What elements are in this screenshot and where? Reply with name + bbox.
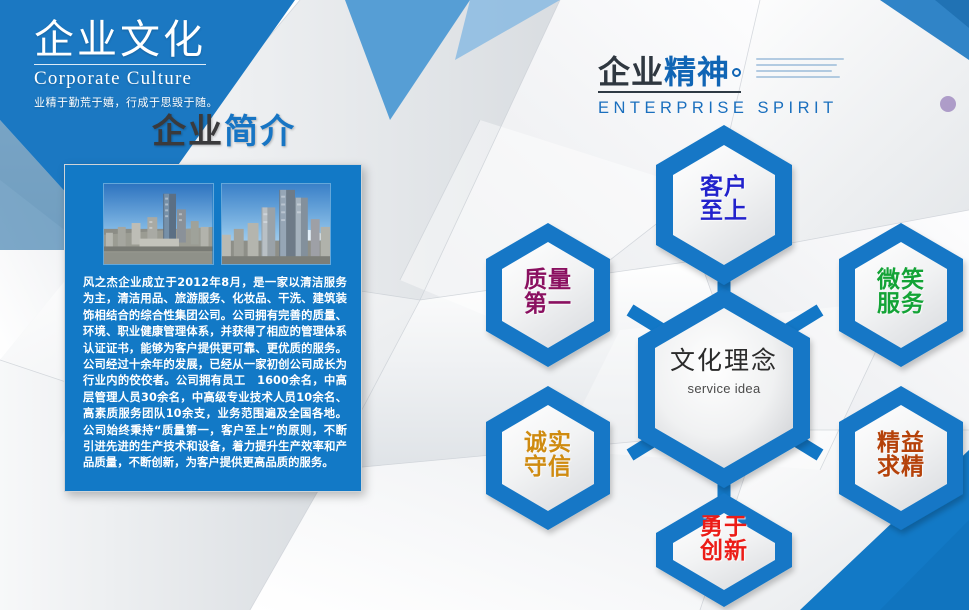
hex-bottom bbox=[656, 493, 792, 607]
hex-upper-left bbox=[486, 223, 610, 367]
banner-text-block: 企业文化 Corporate Culture 业精于勤荒于嬉，行成于思毁于随。 bbox=[34, 18, 354, 110]
spirit-title-blue: 精神 bbox=[664, 53, 730, 91]
banner-title-cn: 企业文化 bbox=[34, 18, 206, 65]
intro-heading-dark: 企业 bbox=[152, 112, 224, 152]
poster-canvas: 企业文化 Corporate Culture 业精于勤荒于嬉，行成于思毁于随。 … bbox=[0, 0, 969, 610]
intro-section-heading: 企业简介 bbox=[152, 112, 296, 152]
company-intro-card: 风之杰企业成立于2012年8月，是一家以清洁服务为主，清洁用品、旅游服务、化妆品… bbox=[64, 164, 362, 492]
intro-heading-blue: 简介 bbox=[224, 112, 296, 152]
spirit-title-dark: 企业 bbox=[598, 53, 664, 91]
company-intro-text: 风之杰企业成立于2012年8月，是一家以清洁服务为主，清洁用品、旅游服务、化妆品… bbox=[83, 275, 347, 472]
banner-title-en: Corporate Culture bbox=[34, 68, 354, 90]
decor-text-lines bbox=[756, 58, 844, 88]
banner-subtitle: 业精于勤荒于嬉，行成于思毁于随。 bbox=[34, 94, 354, 110]
hex-top bbox=[656, 125, 792, 285]
city-skyline-photo-1 bbox=[103, 183, 214, 265]
city-skyline-photo-2 bbox=[221, 183, 332, 265]
hex-center bbox=[638, 288, 810, 488]
spirit-dot-icon bbox=[732, 68, 741, 77]
spirit-title-cn: 企业精神 bbox=[598, 54, 741, 93]
hex-upper-right bbox=[839, 223, 963, 367]
photo-row bbox=[103, 183, 331, 265]
hex-lower-left bbox=[486, 386, 610, 530]
hex-lower-right bbox=[839, 386, 963, 530]
culture-hexagon-diagram: 客户 至上 微笑 服务 精益 求精 勇于 创新 诚实 守信 质量 第一 文化理念… bbox=[480, 105, 969, 610]
